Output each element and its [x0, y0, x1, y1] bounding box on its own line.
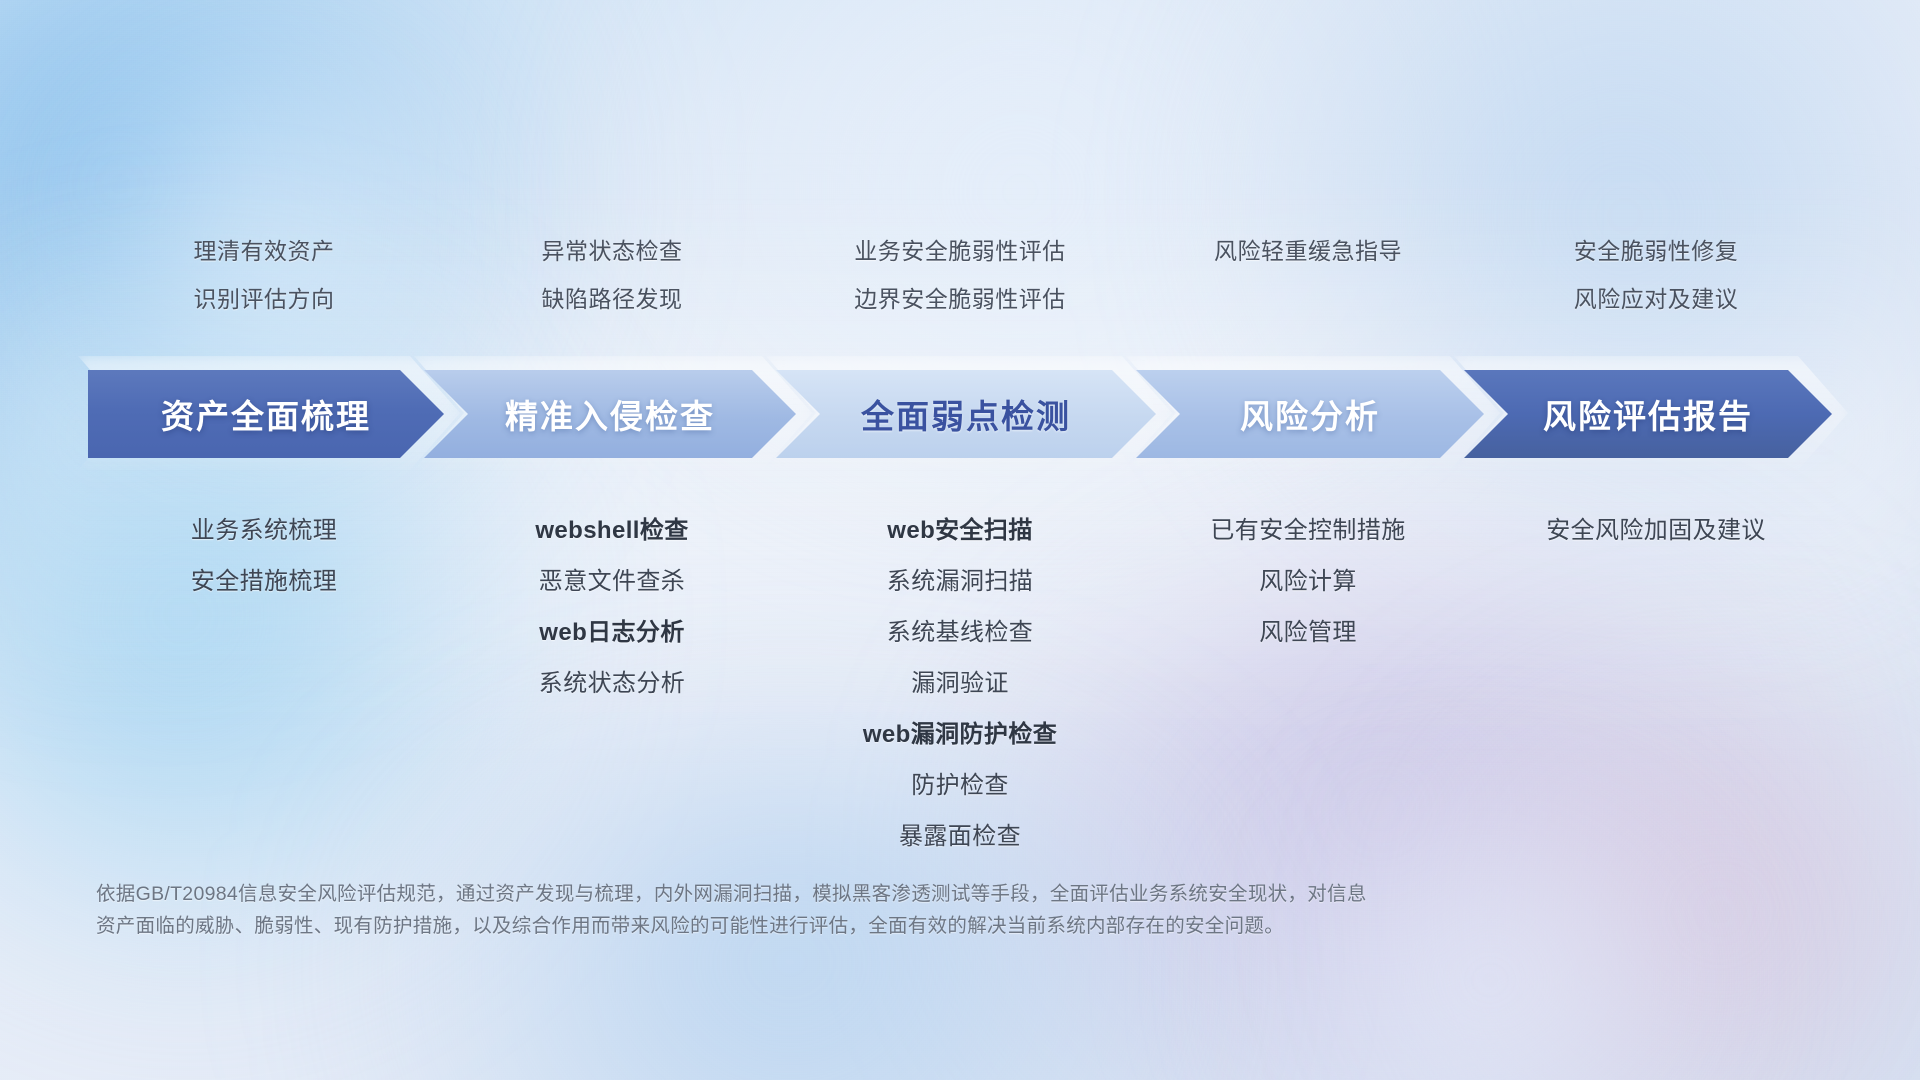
bottom-item: 系统状态分析	[539, 663, 685, 698]
top-note: 安全脆弱性修复	[1574, 232, 1739, 266]
chevron-stage-2[interactable]: 精准入侵检查	[424, 370, 796, 458]
top-notes-stage-1: 理清有效资产 识别评估方向	[90, 232, 438, 314]
chevron-label: 风险分析	[1240, 390, 1380, 438]
bottom-item: 业务系统梳理	[191, 510, 337, 545]
top-notes-stage-3: 业务安全脆弱性评估 边界安全脆弱性评估	[786, 232, 1134, 314]
bottom-items-stage-4: 已有安全控制措施 风险计算 风险管理	[1134, 510, 1482, 647]
bottom-item: web漏洞防护检查	[863, 714, 1057, 749]
chevron-stage-1[interactable]: 资产全面梳理	[88, 370, 444, 458]
top-notes-stage-5: 安全脆弱性修复 风险应对及建议	[1482, 232, 1830, 314]
footer-line-1: 依据GB/T20984信息安全风险评估规范，通过资产发现与梳理，内外网漏洞扫描，…	[96, 878, 1656, 910]
bottom-item: 漏洞验证	[911, 663, 1009, 698]
chevron-label: 精准入侵检查	[505, 390, 715, 438]
bottom-item: 防护检查	[911, 765, 1009, 800]
chevron-label: 全面弱点检测	[861, 390, 1071, 438]
chevron-label: 资产全面梳理	[161, 390, 371, 438]
bottom-items-row: 业务系统梳理 安全措施梳理 webshell检查 恶意文件查杀 web日志分析 …	[90, 510, 1830, 851]
bottom-item: 暴露面检查	[899, 816, 1021, 851]
bottom-item: 风险管理	[1259, 612, 1357, 647]
bottom-item: 系统基线检查	[887, 612, 1033, 647]
bottom-item: web日志分析	[539, 612, 684, 647]
bottom-item: web安全扫描	[887, 510, 1032, 545]
top-notes-stage-2: 异常状态检查 缺陷路径发现	[438, 232, 786, 314]
top-note: 业务安全脆弱性评估	[854, 232, 1066, 266]
bottom-items-stage-2: webshell检查 恶意文件查杀 web日志分析 系统状态分析	[438, 510, 786, 698]
top-notes-row: 理清有效资产 识别评估方向 异常状态检查 缺陷路径发现 业务安全脆弱性评估 边界…	[90, 232, 1830, 314]
bottom-item: 安全措施梳理	[191, 561, 337, 596]
chevron-stage-3[interactable]: 全面弱点检测	[776, 370, 1156, 458]
bottom-item: webshell检查	[535, 510, 688, 545]
top-notes-stage-4: 风险轻重缓急指导	[1134, 232, 1482, 314]
bottom-item: 已有安全控制措施	[1210, 510, 1405, 545]
chevron-label: 风险评估报告	[1543, 390, 1753, 438]
top-note: 风险应对及建议	[1574, 280, 1739, 314]
bottom-item: 安全风险加固及建议	[1546, 510, 1766, 545]
bottom-items-stage-1: 业务系统梳理 安全措施梳理	[90, 510, 438, 596]
top-note: 边界安全脆弱性评估	[854, 280, 1066, 314]
chevron-band: 资产全面梳理 精准入侵检查 全面弱点检测 风险分析 风险评估报告	[88, 370, 1832, 458]
process-diagram: 理清有效资产 识别评估方向 异常状态检查 缺陷路径发现 业务安全脆弱性评估 边界…	[0, 0, 1920, 1080]
bottom-items-stage-3: web安全扫描 系统漏洞扫描 系统基线检查 漏洞验证 web漏洞防护检查 防护检…	[786, 510, 1134, 851]
footer-description: 依据GB/T20984信息安全风险评估规范，通过资产发现与梳理，内外网漏洞扫描，…	[96, 878, 1656, 942]
chevron-stage-4[interactable]: 风险分析	[1136, 370, 1484, 458]
top-note: 识别评估方向	[194, 280, 335, 314]
bottom-item: 恶意文件查杀	[539, 561, 685, 596]
top-note: 缺陷路径发现	[542, 280, 683, 314]
bottom-items-stage-5: 安全风险加固及建议	[1482, 510, 1830, 545]
footer-line-2: 资产面临的威胁、脆弱性、现有防护措施，以及综合作用而带来风险的可能性进行评估，全…	[96, 910, 1656, 942]
chevron-stage-5[interactable]: 风险评估报告	[1464, 370, 1832, 458]
top-note: 理清有效资产	[194, 232, 335, 266]
bottom-item: 系统漏洞扫描	[887, 561, 1033, 596]
top-note: 异常状态检查	[542, 232, 683, 266]
top-note: 风险轻重缓急指导	[1214, 232, 1402, 266]
bottom-item: 风险计算	[1259, 561, 1357, 596]
